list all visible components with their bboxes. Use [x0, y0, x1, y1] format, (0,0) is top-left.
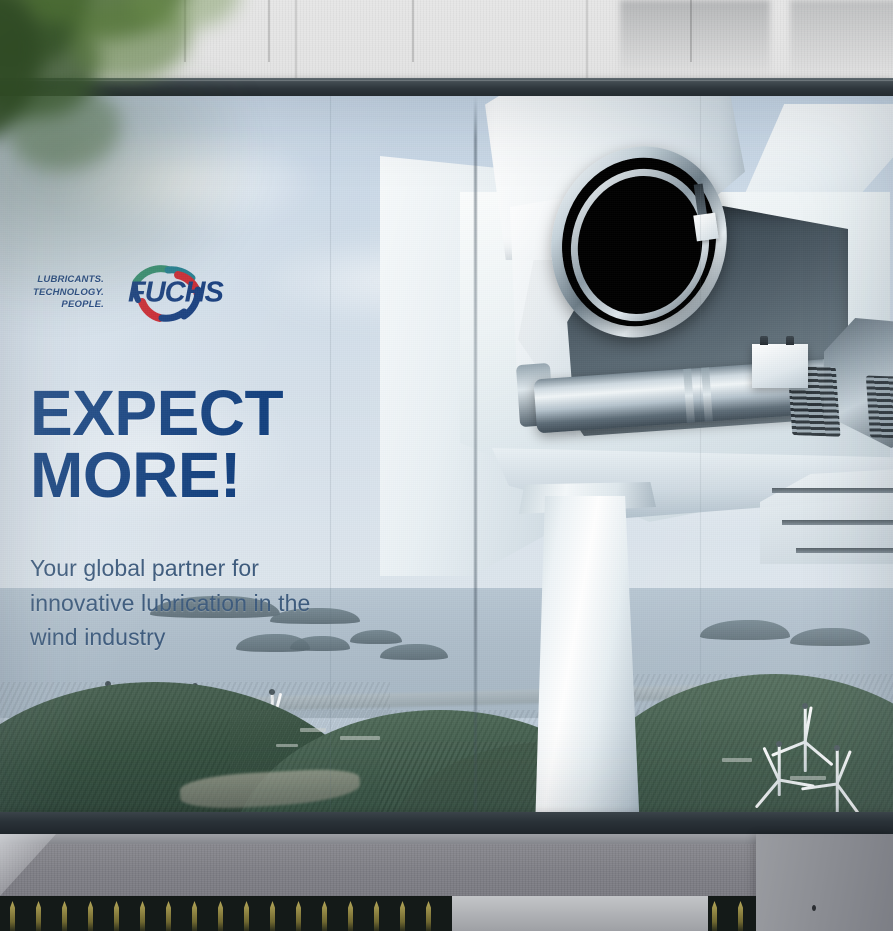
- billboard-bottom-frame-rail: [0, 812, 893, 834]
- fuchs-logo: FUCHS: [118, 262, 222, 324]
- poster-crack: [474, 96, 477, 812]
- brand-lockup: LUBRICANTS. TECHNOLOGY. PEOPLE. FUC: [33, 262, 222, 324]
- cloud: [40, 126, 320, 236]
- metal-picket-fence: [0, 896, 756, 931]
- wall-panel-seam: [690, 0, 692, 62]
- wall-stain: [620, 0, 770, 80]
- fence-gap-panel: [452, 896, 708, 931]
- shaft-collar: [701, 367, 713, 421]
- poster-seam: [700, 96, 701, 812]
- turbine-tower: [526, 496, 644, 812]
- wall-panel-seam: [184, 0, 186, 62]
- junction-box-stud: [786, 336, 794, 345]
- town-speck: [300, 728, 326, 732]
- billboard-poster[interactable]: LUBRICANTS. TECHNOLOGY. PEOPLE. FUC: [0, 96, 893, 812]
- sensor-module: [693, 213, 718, 242]
- town-speck: [340, 736, 380, 740]
- junction-box: [752, 344, 808, 388]
- page-title: EXPECT MORE!: [30, 382, 283, 506]
- concrete-pillar: [756, 834, 893, 931]
- town-speck: [276, 744, 298, 747]
- wall-panel-seam: [586, 0, 588, 80]
- brand-claim-text: LUBRICANTS. TECHNOLOGY. PEOPLE.: [33, 274, 104, 312]
- wall-stain: [790, 0, 893, 82]
- frame-beam: [782, 520, 893, 525]
- gear-teeth: [866, 375, 893, 438]
- shaft-collar: [683, 369, 695, 423]
- billboard-photo-scene: LUBRICANTS. TECHNOLOGY. PEOPLE. FUC: [0, 0, 893, 931]
- wall-panel-seam: [268, 0, 270, 62]
- wall-panel-seam: [295, 0, 297, 80]
- frame-beam: [796, 548, 893, 553]
- wall-panel-seam: [412, 0, 414, 62]
- island: [350, 630, 402, 644]
- junction-box-stud: [760, 336, 768, 345]
- fuchs-wordmark: FUCHS: [128, 277, 223, 310]
- frame-beam: [772, 488, 893, 493]
- billboard-top-frame-rail: [0, 78, 893, 97]
- poster-seam: [330, 96, 331, 812]
- wall-mark: [812, 905, 816, 911]
- page-subtitle: Your global partner for innovative lubri…: [30, 551, 310, 655]
